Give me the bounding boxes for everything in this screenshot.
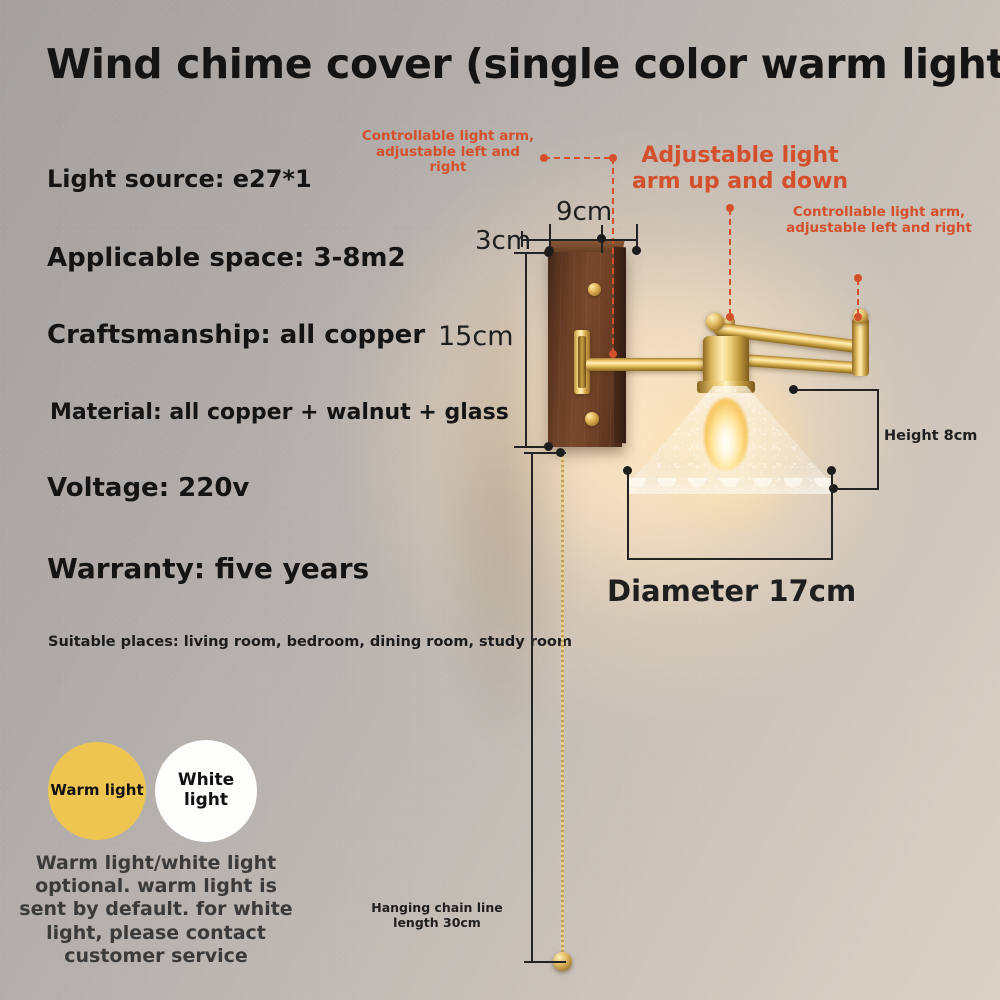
dimension-line-diameter (627, 558, 833, 560)
callout-left-dot-end (609, 350, 617, 358)
callout-left-dash-h (544, 157, 610, 159)
dimension-label-9cm: 9cm (556, 197, 612, 227)
dimension-tick-chain-bottom (524, 961, 566, 963)
spec-voltage: Voltage: 220v (47, 473, 249, 503)
brass-screw-top-icon (588, 283, 601, 296)
wood-plate-side (614, 247, 626, 444)
white-light-label: White light (155, 771, 257, 810)
callout-top-dash-v (729, 209, 731, 315)
light-option-note: Warm light/white light optional. warm li… (18, 852, 294, 968)
dimension-line-15cm (525, 252, 527, 447)
arm-elbow-joint[interactable] (852, 318, 869, 376)
spec-light-source: Light source: e27*1 (47, 165, 312, 193)
dimension-dot-9cm-mid (597, 234, 606, 243)
callout-right-dash-v (857, 279, 859, 315)
pull-chain[interactable] (561, 452, 564, 952)
dimension-line-diameter-right (831, 470, 833, 560)
callout-left-dash-v (612, 158, 614, 354)
callout-top-dot-end (726, 313, 734, 321)
brass-screw-bottom-icon (585, 412, 599, 426)
product-infographic: Wind chime cover (single color warm ligh… (0, 0, 1000, 1000)
dimension-tick-9cm-left (549, 224, 551, 246)
lamp-socket (703, 336, 749, 386)
dimension-line-height8-vert (877, 389, 879, 489)
dimension-label-diameter-17cm: Diameter 17cm (607, 574, 856, 608)
dimension-dot-chain-top (556, 448, 565, 457)
dimension-line-chain (531, 452, 533, 962)
callout-right-dot-end (854, 313, 862, 321)
dimension-line-diameter-left (627, 470, 629, 560)
dimension-line-height8-top (793, 389, 879, 391)
warm-light-label: Warm light (50, 782, 143, 799)
suitable-places-text: Suitable places: living room, bedroom, d… (48, 634, 572, 650)
warm-light-swatch[interactable]: Warm light (48, 742, 146, 840)
dimension-line-9cm (549, 239, 637, 241)
light-bulb (704, 398, 748, 470)
dimension-label-height-8cm: Height 8cm (884, 428, 977, 444)
spec-material: Material: all copper + walnut + glass (50, 400, 509, 425)
callout-top-label: Adjustable light arm up and down (618, 143, 862, 194)
dimension-dot-15cm-bottom (544, 442, 553, 451)
dimension-dot-shade-top (789, 385, 798, 394)
spec-warranty: Warranty: five years (47, 552, 369, 585)
dimension-label-chain-length: Hanging chain line length 30cm (352, 900, 522, 930)
lamp-arm-segment-1[interactable] (586, 358, 718, 371)
dimension-dot-diameter-left (623, 466, 632, 475)
page-title: Wind chime cover (single color warm ligh… (46, 40, 946, 88)
spec-applicable-space: Applicable space: 3-8m2 (47, 243, 406, 273)
dimension-line-height8-bottom (833, 488, 879, 490)
lampshade-ruffle-edge (621, 478, 839, 504)
callout-left-label: Controllable light arm, adjustable left … (358, 129, 538, 176)
dimension-dot-diameter-right (827, 466, 836, 475)
dimension-label-15cm: 15cm (438, 321, 514, 352)
brass-switch-inner (578, 336, 586, 388)
dimension-tick-15cm-top (514, 252, 548, 254)
spec-craftsmanship: Craftsmanship: all copper (47, 320, 425, 350)
dimension-tick-15cm-bottom (514, 446, 548, 448)
dimension-dot-9cm-right (632, 246, 641, 255)
callout-right-label: Controllable light arm, adjustable left … (770, 205, 988, 236)
dimension-dot-15cm-top (544, 248, 553, 257)
white-light-swatch[interactable]: White light (155, 740, 257, 842)
arm-joint-upper[interactable] (706, 313, 724, 331)
